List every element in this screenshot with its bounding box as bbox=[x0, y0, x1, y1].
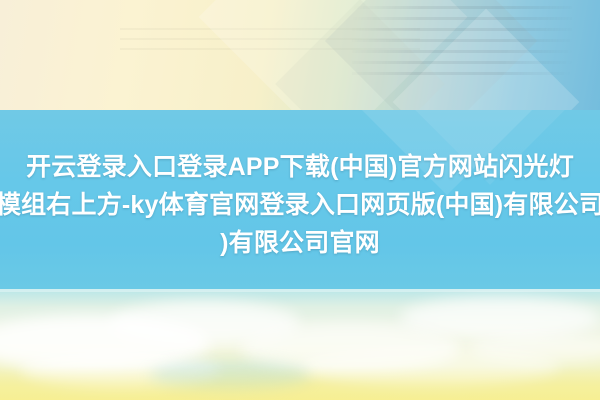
title-line-2: 模组右上方-ky体育官网登录入口网页版(中国)有限公司 bbox=[0, 186, 600, 224]
title-line-3: )有限公司官网 bbox=[0, 224, 600, 262]
bottom-sky-band bbox=[0, 289, 600, 400]
top-gradient-band bbox=[0, 0, 600, 110]
title-line-1: 开云登录入口登录APP下载(中国)官方网站闪光灯 bbox=[0, 148, 600, 186]
banner-image: 开云登录入口登录APP下载(中国)官方网站闪光灯 模组右上方-ky体育官网登录入… bbox=[0, 0, 600, 400]
band-seam bbox=[0, 289, 600, 292]
bottom-haze bbox=[0, 366, 600, 400]
banner-title: 开云登录入口登录APP下载(中国)官方网站闪光灯 模组右上方-ky体育官网登录入… bbox=[0, 148, 600, 262]
ghost-text-texture bbox=[352, 6, 572, 78]
headline-band: 开云登录入口登录APP下载(中国)官方网站闪光灯 模组右上方-ky体育官网登录入… bbox=[0, 110, 600, 289]
